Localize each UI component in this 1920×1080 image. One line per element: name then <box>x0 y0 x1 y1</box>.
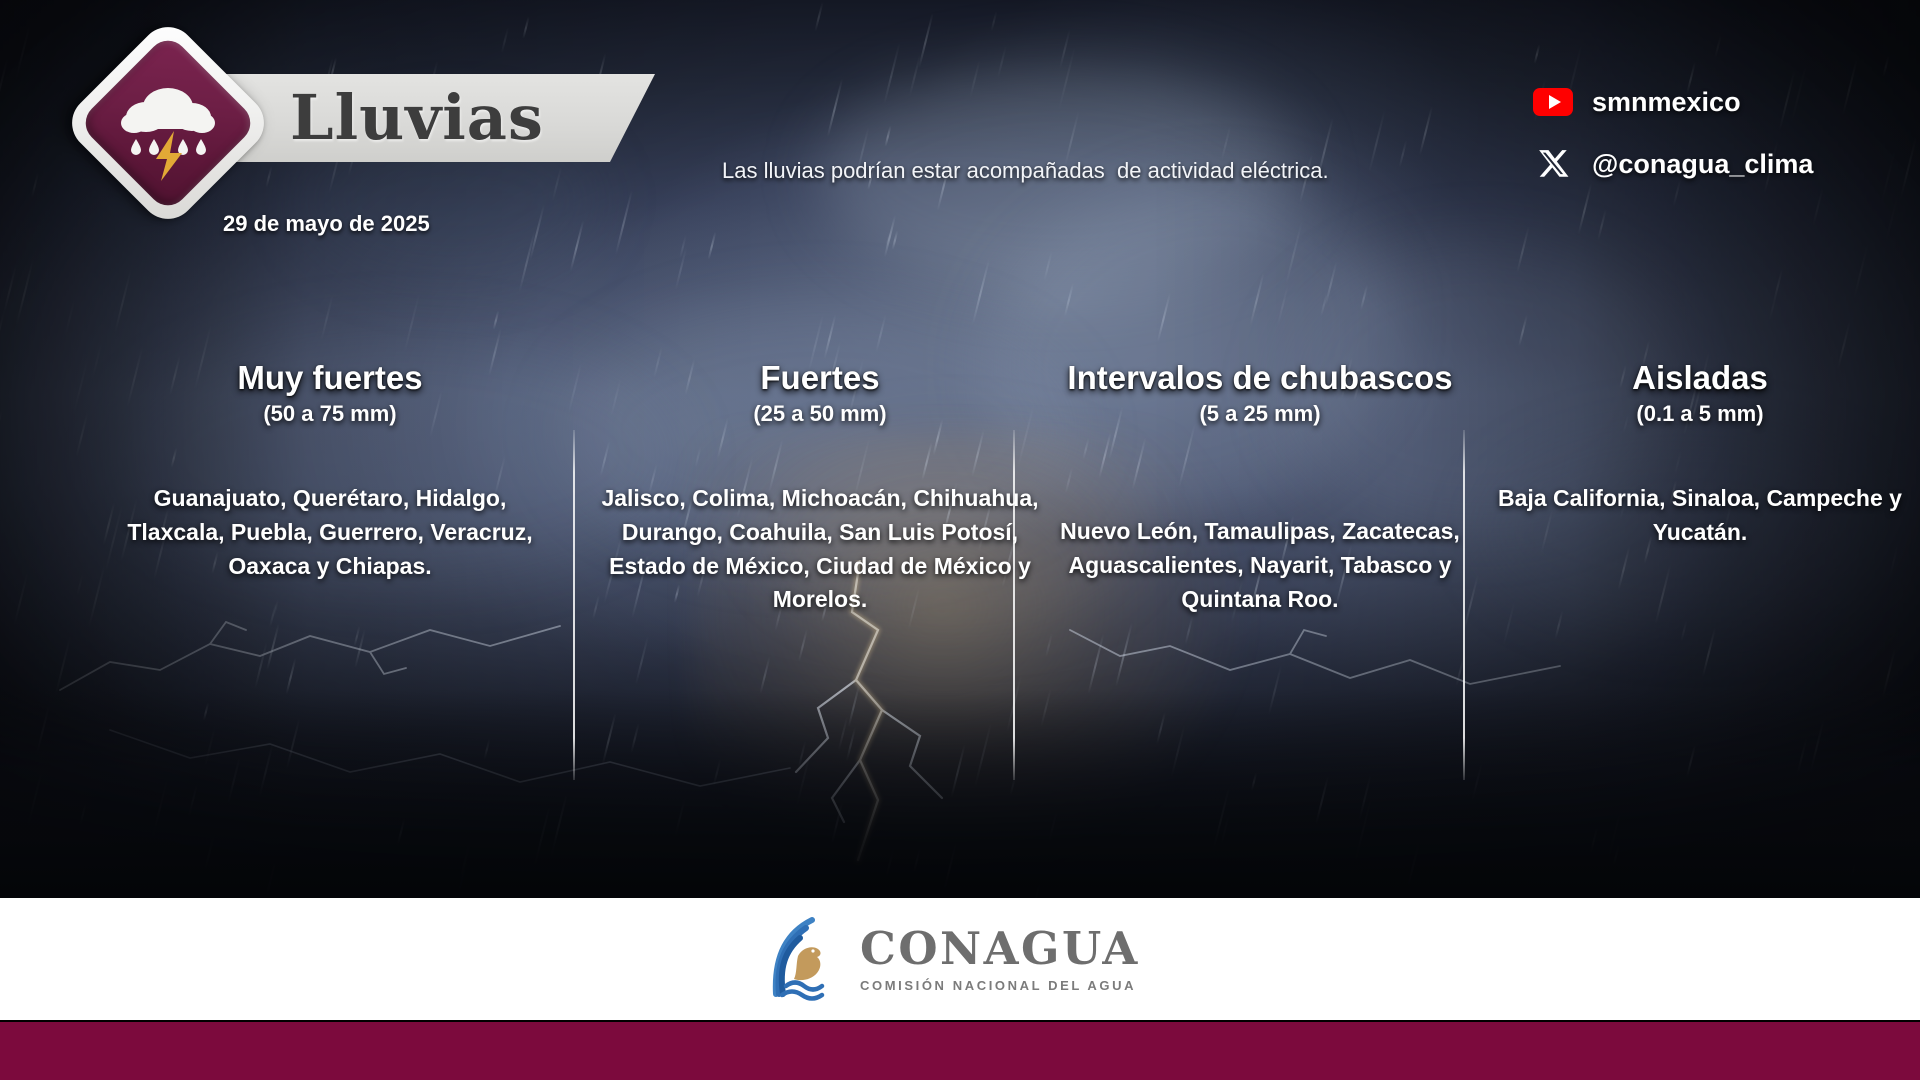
youtube-icon <box>1530 88 1576 116</box>
column-title: Fuertes <box>600 360 1040 396</box>
column-range: (0.1 a 5 mm) <box>1490 401 1910 427</box>
column-range: (50 a 75 mm) <box>110 401 550 427</box>
column-title: Aisladas <box>1490 360 1910 396</box>
column-states: Jalisco, Colima, Michoacán, Chihuahua, D… <box>600 482 1040 617</box>
column-states: Guanajuato, Querétaro, Hidalgo, Tlaxcala… <box>110 482 550 583</box>
brand-color-bar <box>0 1022 1920 1080</box>
social-links: smnmexico @conagua_clima <box>1530 78 1900 202</box>
column-divider <box>1463 430 1465 780</box>
column-muy-fuertes: Muy fuertes (50 a 75 mm) Guanajuato, Que… <box>110 360 550 427</box>
column-intervalos-chubascos: Intervalos de chubascos (5 a 25 mm) Nuev… <box>1040 360 1480 427</box>
column-fuertes: Fuertes (25 a 50 mm) Jalisco, Colima, Mi… <box>600 360 1040 427</box>
column-divider <box>573 430 575 780</box>
subtitle-note: Las lluvias podrían estar acompañadas de… <box>722 158 1542 184</box>
column-states: Baja California, Sinaloa, Campeche y Yuc… <box>1490 482 1910 550</box>
column-states: Nuevo León, Tamaulipas, Zacatecas, Aguas… <box>1040 515 1480 616</box>
storm-cloud-lightning-icon <box>74 33 264 223</box>
column-range: (5 a 25 mm) <box>1040 401 1480 427</box>
youtube-handle: smnmexico <box>1592 87 1741 118</box>
column-aisladas: Aisladas (0.1 a 5 mm) Baja California, S… <box>1490 360 1910 427</box>
x-handle: @conagua_clima <box>1592 149 1813 180</box>
column-divider <box>1013 430 1015 780</box>
organization-name: CONAGUA <box>860 926 1140 971</box>
rain-intensity-columns: Muy fuertes (50 a 75 mm) Guanajuato, Que… <box>0 360 1920 800</box>
x-twitter-icon <box>1530 148 1576 180</box>
conagua-logo: CONAGUA COMISIÓN NACIONAL DEL AGUA <box>766 916 1156 1002</box>
social-item-x[interactable]: @conagua_clima <box>1530 140 1900 188</box>
column-title: Intervalos de chubascos <box>1040 360 1480 396</box>
cloud-rain-bolt-glyph <box>104 59 232 187</box>
organization-tagline: COMISIÓN NACIONAL DEL AGUA <box>860 978 1140 993</box>
conagua-eagle-water-logo <box>766 916 848 1002</box>
infographic-root: Lluvias 29 de mayo de 2025 Las lluv <box>0 0 1920 1080</box>
column-range: (25 a 50 mm) <box>600 401 1040 427</box>
column-title: Muy fuertes <box>110 360 550 396</box>
social-item-youtube[interactable]: smnmexico <box>1530 78 1900 126</box>
page-title: Lluvias <box>290 78 630 158</box>
forecast-date: 29 de mayo de 2025 <box>223 211 430 237</box>
